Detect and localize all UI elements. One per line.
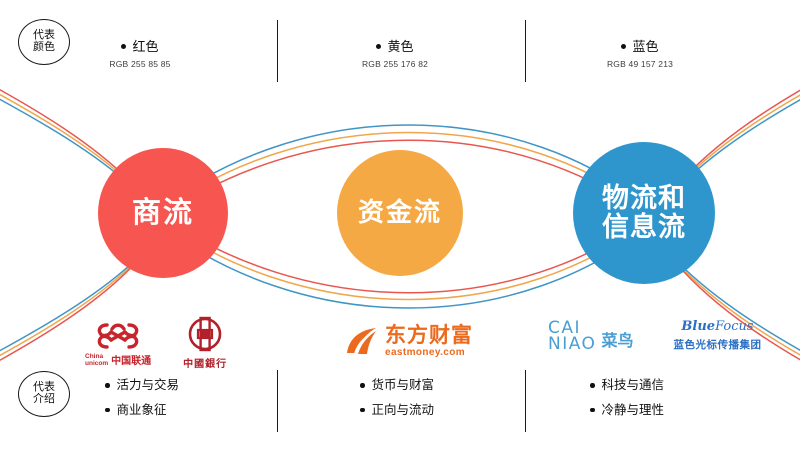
logo-group-blue: CAI NIAO 菜鸟 BlueFocus 蓝色光标传播集团 <box>548 320 761 352</box>
cainiao-mark: CAI NIAO <box>548 320 596 352</box>
cainiao-mark-line2: NIAO <box>548 336 596 352</box>
badge-intro-line2: 介绍 <box>33 394 55 406</box>
eastmoney-chinese: 东方财富 <box>385 325 473 346</box>
china-unicom-english: China unicom <box>85 354 108 368</box>
circle-yellow-label: 资金流 <box>358 199 442 227</box>
footer-divider-2 <box>525 370 526 432</box>
color-cell-red: 红色 RGB 255 85 85 <box>80 40 200 69</box>
cainiao-chinese: 菜鸟 <box>601 327 633 351</box>
circle-capital-flow[interactable]: 资金流 <box>337 150 463 276</box>
footer-divider-1 <box>277 370 278 432</box>
bullet-dot-icon <box>105 408 110 413</box>
color-rgb-red: RGB 255 85 85 <box>80 60 200 69</box>
bullet-dot-icon <box>590 408 595 413</box>
list-item: 货币与财富 <box>360 379 434 392</box>
header-divider-2 <box>525 20 526 82</box>
china-unicom-wordmark: China unicom 中国联通 <box>85 354 151 368</box>
color-name-blue: 蓝色 <box>580 40 700 53</box>
bullets-blue: 科技与通信 冷静与理性 <box>590 379 664 428</box>
bullet-dot-icon <box>360 408 365 413</box>
bullet-dot-icon <box>105 383 110 388</box>
circle-logistics-info-flow[interactable]: 物流和 信息流 <box>573 142 715 284</box>
circle-blue-label-line2: 信息流 <box>602 213 686 242</box>
color-name-yellow: 黄色 <box>335 40 455 53</box>
logo-cainiao: CAI NIAO 菜鸟 <box>548 320 633 352</box>
bluefocus-english: BlueFocus <box>681 320 753 333</box>
color-rgb-blue: RGB 49 157 213 <box>580 60 700 69</box>
logo-group-yellow: 东方财富 eastmoney.com <box>345 325 473 358</box>
list-item: 商业象征 <box>105 404 179 417</box>
color-cell-blue: 蓝色 RGB 49 157 213 <box>580 40 700 69</box>
circle-blue-label-line1: 物流和 <box>602 184 686 213</box>
bullet-dot-icon <box>121 44 126 49</box>
bullet-dot-icon <box>376 44 381 49</box>
logo-bank-of-china: 中國銀行 <box>183 316 227 370</box>
china-unicom-chinese: 中国联通 <box>111 357 151 367</box>
list-item: 冷静与理性 <box>590 404 664 417</box>
list-item: 科技与通信 <box>590 379 664 392</box>
bullets-red: 活力与交易 商业象征 <box>105 379 179 428</box>
color-rgb-yellow: RGB 255 176 82 <box>335 60 455 69</box>
circle-commerce-flow[interactable]: 商流 <box>98 148 228 278</box>
header-divider-1 <box>277 20 278 82</box>
logo-china-unicom: China unicom 中国联通 <box>85 319 151 368</box>
badge-representative-color: 代表 颜色 <box>18 19 70 65</box>
eastmoney-english: eastmoney.com <box>385 348 473 358</box>
logo-bluefocus: BlueFocus 蓝色光标传播集团 <box>673 320 761 352</box>
list-item: 活力与交易 <box>105 379 179 392</box>
infographic-canvas: 代表 颜色 红色 RGB 255 85 85 黄色 RGB 255 176 82… <box>0 0 800 450</box>
badge-color-line2: 颜色 <box>33 42 55 54</box>
eastmoney-wordmark: 东方财富 eastmoney.com <box>385 325 473 358</box>
circle-red-label: 商流 <box>132 197 194 228</box>
badge-representative-intro: 代表 介绍 <box>18 371 70 417</box>
bullet-dot-icon <box>360 383 365 388</box>
bank-of-china-mark-icon <box>187 316 223 352</box>
color-header-row: 代表 颜色 红色 RGB 255 85 85 黄色 RGB 255 176 82… <box>0 0 800 92</box>
eastmoney-mark-icon <box>345 327 379 357</box>
bullet-dot-icon <box>590 383 595 388</box>
china-unicom-mark-icon <box>95 319 141 353</box>
bank-of-china-chinese: 中國銀行 <box>183 355 227 370</box>
bullets-yellow: 货币与财富 正向与流动 <box>360 379 434 428</box>
color-name-red: 红色 <box>80 40 200 53</box>
list-item: 正向与流动 <box>360 404 434 417</box>
bullet-dot-icon <box>621 44 626 49</box>
color-cell-yellow: 黄色 RGB 255 176 82 <box>335 40 455 69</box>
logo-group-red: China unicom 中国联通 中國銀行 <box>85 316 227 370</box>
bluefocus-chinese: 蓝色光标传播集团 <box>673 337 761 352</box>
